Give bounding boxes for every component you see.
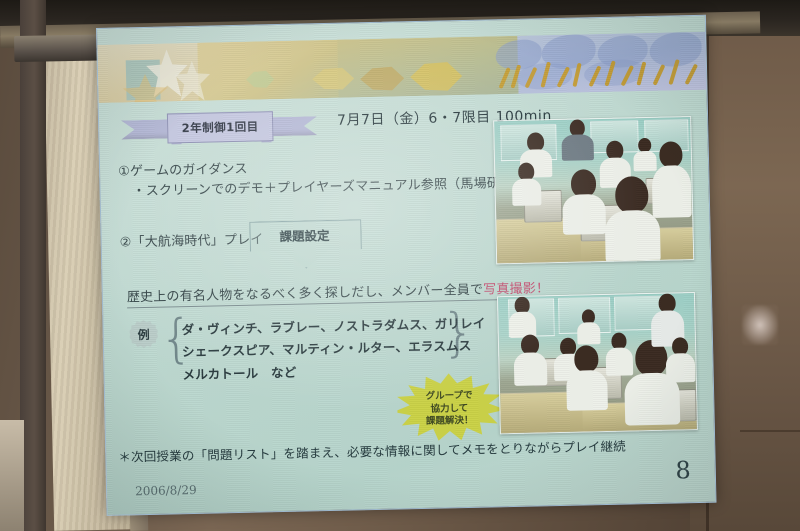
ribbon-label: 2年制御1回目 — [182, 118, 259, 136]
wall-patch — [742, 305, 778, 345]
wall-seam-lower — [740, 430, 800, 432]
photo-student — [511, 162, 542, 205]
task-setting-label: 課題設定 — [249, 224, 359, 245]
slide-footnote: ＊次回授業の「問題リスト」を踏まえ、必要な情報に関してメモをとりながらプレイ継続 — [118, 436, 626, 466]
task-headline-tail: ！ — [536, 281, 550, 296]
ribbon-center: 2年制御1回目 — [167, 111, 274, 143]
starburst-line: グループで — [426, 390, 473, 404]
photo-student — [561, 169, 606, 232]
projection-screen: 2年制御1回目 7月7日（金）6・7限目 100min ①ゲームのガイダンス ・… — [96, 15, 715, 518]
slide-page-number: 8 — [675, 456, 691, 484]
photo-student — [651, 141, 693, 216]
agenda-item-1-number: ① — [118, 164, 130, 179]
task-setting-arrow-box: 課題設定 — [249, 219, 360, 267]
agenda-item-1-label: ゲームのガイダンス — [130, 162, 248, 180]
agenda-item-2-label: 「大航海時代」プレイ — [131, 232, 263, 250]
starburst-line: 課題解決！ — [426, 415, 474, 429]
photo-student — [576, 309, 601, 344]
example-seal-label: 例 — [137, 325, 149, 342]
photo-student — [565, 345, 608, 408]
agenda-item-2-number: ② — [120, 235, 132, 250]
ribbon-title-banner: 2年制御1回目 — [121, 110, 318, 144]
photo-teacher — [560, 119, 595, 160]
example-names-list: ダ・ヴィンチ、ラブレー、ノストラダムス、ガリレイ シェークスピア、マルティン・ル… — [181, 313, 486, 386]
task-headline-text: 歴史上の有名人物をなるべく多く探しだし、メンバー全員で — [127, 283, 484, 306]
slide-date-stamp: 2006/8/29 — [135, 483, 197, 498]
task-headline: 歴史上の有名人物をなるべく多く探しだし、メンバー全員で写真撮影！ — [127, 277, 550, 308]
group-cooperation-starburst: グループで 協力して 課題解決！ — [397, 372, 503, 446]
photo-computer-lab-students-bottom — [497, 292, 698, 434]
example-seal-badge: 例 — [129, 320, 158, 349]
agenda-item-2: ②「大航海時代」プレイ — [119, 228, 263, 250]
presentation-slide: 2年制御1回目 7月7日（金）6・7限目 100min ①ゲームのガイダンス ・… — [96, 15, 717, 516]
photo-student — [665, 337, 696, 382]
slide-banner-image — [97, 32, 706, 103]
photo-student — [513, 334, 548, 385]
floor-object — [0, 420, 24, 531]
photo-student — [508, 296, 537, 337]
screenshot-stage: 2年制御1回目 7月7日（金）6・7限目 100min ①ゲームのガイダンス ・… — [0, 0, 800, 531]
photo-computer-lab-students-top — [493, 116, 694, 264]
